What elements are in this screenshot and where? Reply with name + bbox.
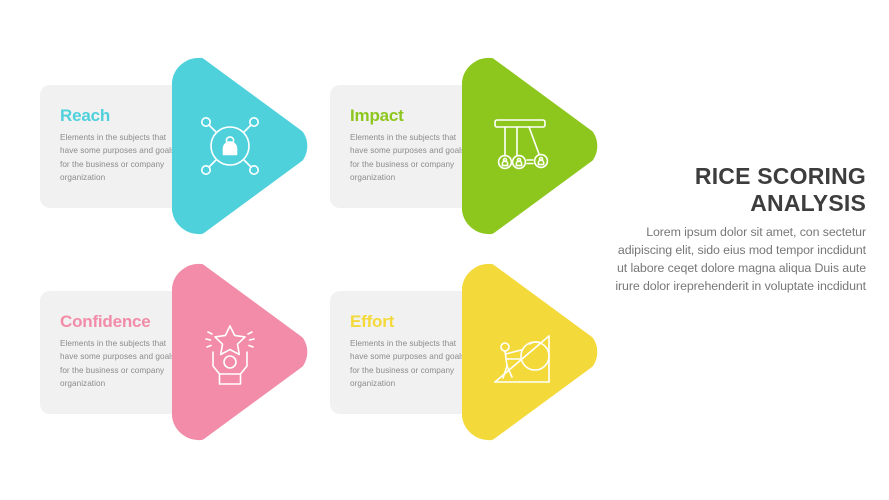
card-description-reach: Elements in the subjects that have some … (60, 131, 185, 184)
wedge-impact[interactable] (465, 58, 603, 234)
wedge-effort[interactable] (465, 264, 603, 440)
card-description-effort: Elements in the subjects that have some … (350, 337, 475, 390)
card-description-impact: Elements in the subjects that have some … (350, 131, 475, 184)
heading-panel: RICE SCORING ANALYSIS Lorem ipsum dolor … (614, 163, 866, 295)
newtons-cradle-icon (465, 58, 603, 234)
network-person-icon (175, 58, 313, 234)
card-title-effort: Effort (350, 313, 475, 330)
wedge-confidence[interactable] (175, 264, 313, 440)
person-star-icon (175, 264, 313, 440)
page-description: Lorem ipsum dolor sit amet, con sectetur… (614, 223, 866, 295)
card-title-impact: Impact (350, 107, 475, 124)
card-description-confidence: Elements in the subjects that have some … (60, 337, 185, 390)
person-pushing-ball-icon (465, 264, 603, 440)
infographic-canvas: Reach Elements in the subjects that have… (0, 0, 889, 500)
card-title-confidence: Confidence (60, 313, 185, 330)
card-title-reach: Reach (60, 107, 185, 124)
page-title: RICE SCORING ANALYSIS (614, 163, 866, 217)
wedge-reach[interactable] (175, 58, 313, 234)
